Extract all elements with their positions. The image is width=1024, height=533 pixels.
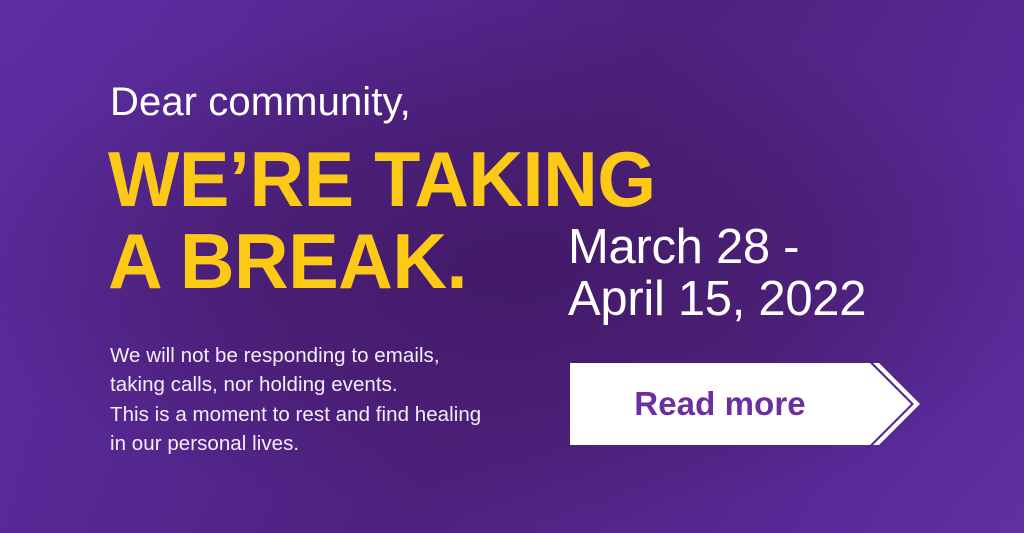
date-range-line-1: March 28 - [568, 222, 866, 274]
headline-line-1: WE’RE TAKING [108, 142, 656, 217]
banner-content: Dear community, WE’RE TAKING A BREAK. Ma… [108, 0, 1024, 533]
headline-line-1-row: WE’RE TAKING [108, 142, 673, 217]
headline-line-2-row: A BREAK. [108, 224, 478, 299]
arrow-right-icon [570, 363, 952, 445]
headline-line-2: A BREAK. [108, 224, 467, 299]
body-copy-line-4: in our personal lives. [110, 429, 481, 458]
salutation-text: Dear community, [110, 82, 411, 122]
date-range-line-2: April 15, 2022 [568, 274, 866, 326]
announcement-banner: Dear community, WE’RE TAKING A BREAK. Ma… [0, 0, 1024, 533]
body-copy-line-3: This is a moment to rest and find healin… [110, 400, 481, 429]
body-copy-line-2: taking calls, nor holding events. [110, 370, 481, 399]
body-copy: We will not be responding to emails, tak… [110, 341, 481, 458]
body-copy-line-1: We will not be responding to emails, [110, 341, 481, 370]
date-range: March 28 - April 15, 2022 [568, 222, 866, 326]
read-more-button[interactable]: Read more [570, 363, 952, 445]
